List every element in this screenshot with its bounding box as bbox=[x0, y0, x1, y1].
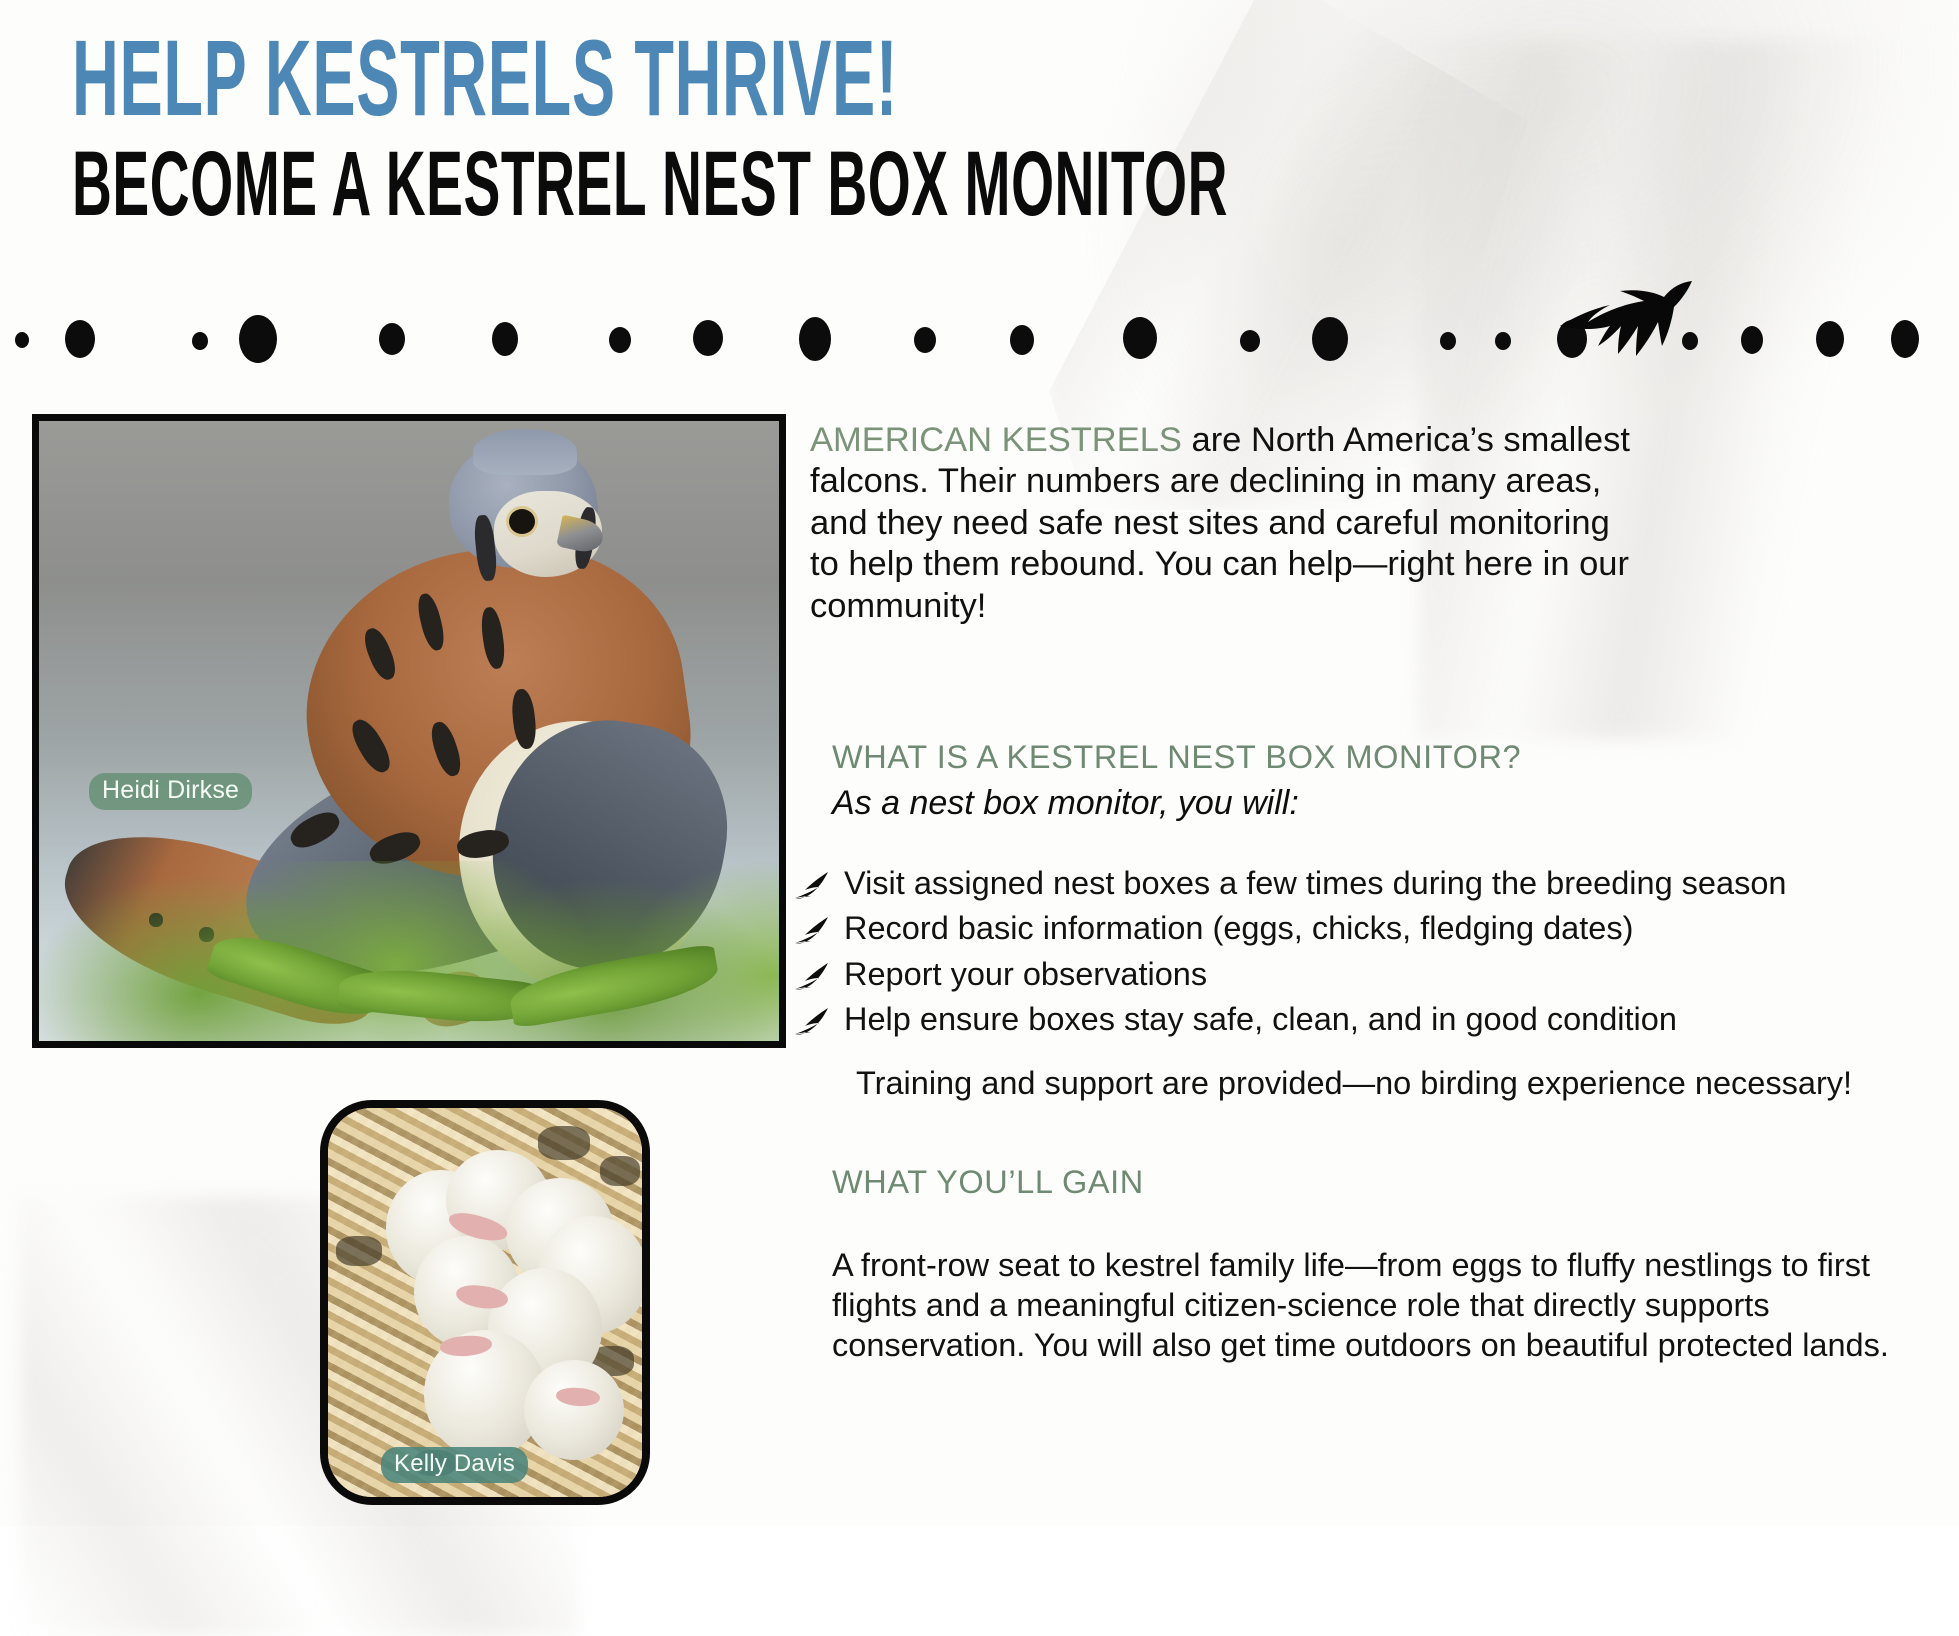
training-note: Training and support are provided—no bir… bbox=[856, 1065, 1920, 1102]
content-column: AMERICAN KESTRELS are North America’s sm… bbox=[810, 420, 1920, 1366]
bedding-debris bbox=[600, 1156, 640, 1186]
page-title: HELP KESTRELS THRIVE! bbox=[72, 24, 898, 132]
photo-credit-inset: Kelly Davis bbox=[381, 1447, 528, 1483]
feather-bullet-icon bbox=[792, 961, 830, 991]
monitor-section-subheading: As a nest box monitor, you will: bbox=[832, 784, 1920, 823]
bedding-debris bbox=[538, 1126, 590, 1160]
monitor-section: WHAT IS A KESTREL NEST BOX MONITOR? As a… bbox=[832, 739, 1920, 1102]
feather-bullet-icon bbox=[792, 1006, 830, 1036]
list-item-label: Report your observations bbox=[844, 954, 1207, 994]
kestrel-crown bbox=[473, 429, 577, 475]
list-item-label: Visit assigned nest boxes a few times du… bbox=[844, 863, 1786, 903]
list-item: Help ensure boxes stay safe, clean, and … bbox=[792, 999, 1920, 1039]
list-item: Report your observations bbox=[792, 954, 1920, 994]
kestrel-adult-photo: Heidi Dirkse bbox=[32, 414, 786, 1048]
lead-paragraph: AMERICAN KESTRELS are North America’s sm… bbox=[810, 420, 1640, 627]
monitor-section-heading: WHAT IS A KESTREL NEST BOX MONITOR? bbox=[832, 739, 1920, 776]
nestling bbox=[524, 1360, 624, 1460]
list-item-label: Record basic information (eggs, chicks, … bbox=[844, 908, 1633, 948]
feather-bullet-icon bbox=[792, 915, 830, 945]
dotted-divider bbox=[0, 296, 1959, 376]
kestrel-eye bbox=[509, 509, 535, 534]
monitor-duties-list: Visit assigned nest boxes a few times du… bbox=[792, 863, 1920, 1039]
feather-bullet-icon bbox=[792, 870, 830, 900]
list-item: Visit assigned nest boxes a few times du… bbox=[792, 863, 1920, 903]
list-item-label: Help ensure boxes stay safe, clean, and … bbox=[844, 999, 1677, 1039]
bedding-debris bbox=[336, 1236, 382, 1266]
list-item: Record basic information (eggs, chicks, … bbox=[792, 908, 1920, 948]
kestrel-nestlings-photo: Kelly Davis bbox=[320, 1100, 650, 1505]
gain-section-heading: WHAT YOU’LL GAIN bbox=[832, 1164, 1920, 1201]
page-subtitle: BECOME A KESTREL NEST BOX MONITOR bbox=[72, 138, 1228, 230]
gain-section-body: A front-row seat to kestrel family life—… bbox=[832, 1245, 1927, 1365]
flying-kestrel-silhouette-icon bbox=[1548, 264, 1718, 384]
lead-highlight: AMERICAN KESTRELS bbox=[810, 421, 1182, 459]
photo-credit-main: Heidi Dirkse bbox=[89, 773, 252, 810]
